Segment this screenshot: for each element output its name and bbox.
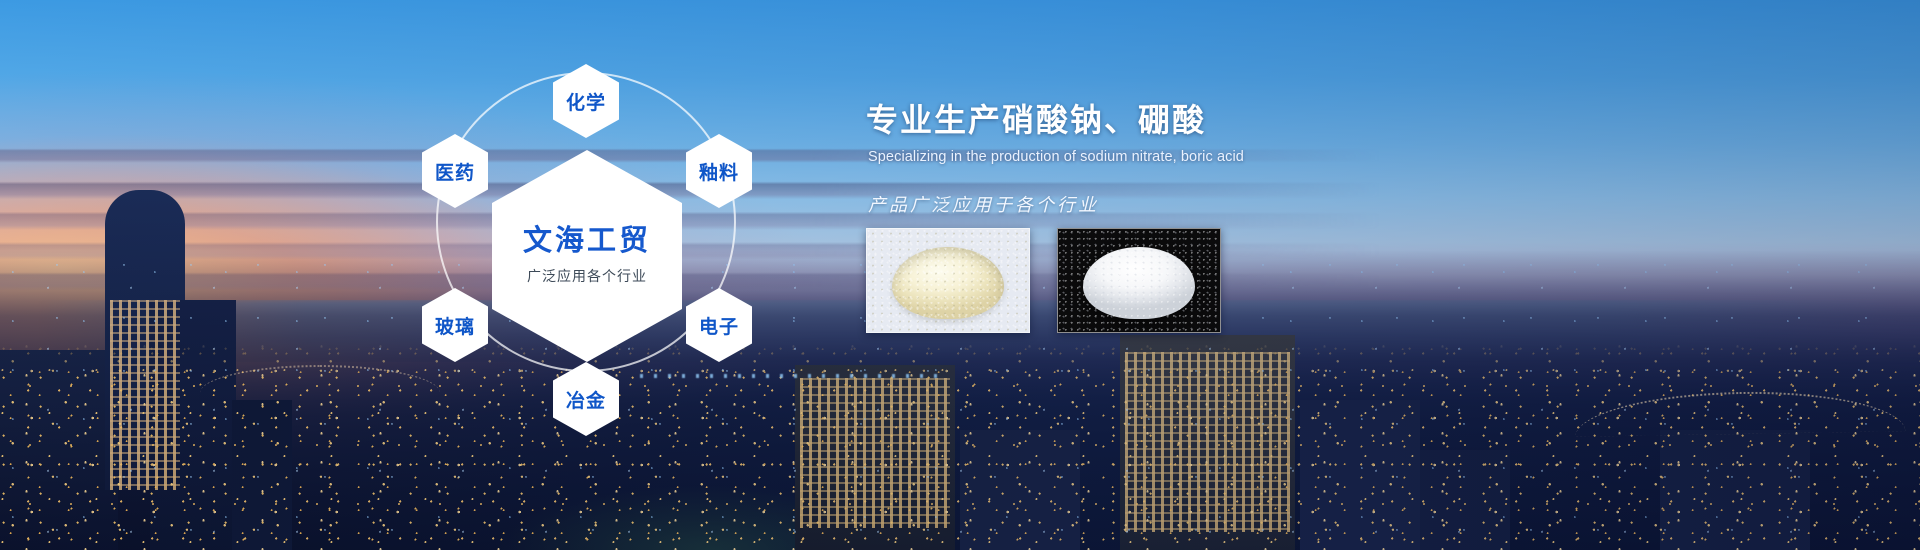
hero-banner: 文海工贸 广泛应用各个行业 化学 釉料 电子 冶金 玻璃 医药 专业生产硝酸钠、…: [0, 0, 1920, 550]
marketing-copy: 专业生产硝酸钠、硼酸 Specializing in the productio…: [866, 100, 1506, 217]
subheadline: Specializing in the production of sodium…: [868, 149, 1506, 165]
product-photo-boric-acid[interactable]: [1057, 228, 1221, 333]
headline: 专业生产硝酸钠、硼酸: [866, 100, 1506, 140]
tagline: 产品广泛应用于各个行业: [868, 191, 1506, 217]
brand-slogan: 广泛应用各个行业: [527, 266, 647, 286]
brand-name: 文海工贸: [523, 226, 651, 255]
product-photo-strip: [866, 228, 1221, 333]
industry-hex-diagram: 文海工贸 广泛应用各个行业 化学 釉料 电子 冶金 玻璃 医药: [400, 30, 790, 430]
industry-hex-metallurgy[interactable]: 冶金: [553, 362, 619, 436]
product-photo-sodium-nitrate[interactable]: [866, 228, 1030, 333]
powder-texture: [867, 229, 1029, 332]
powder-texture: [1058, 229, 1220, 332]
